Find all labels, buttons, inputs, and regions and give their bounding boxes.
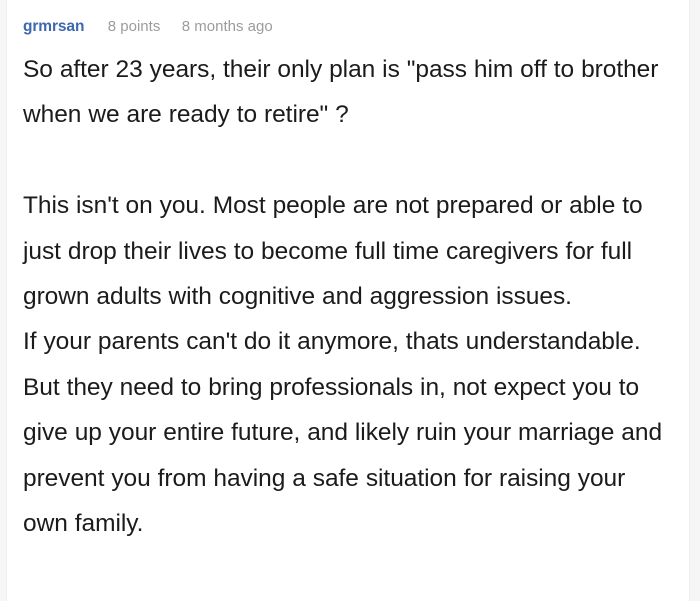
comment-timestamp: 8 months ago <box>182 17 273 37</box>
comment-score: 8 points <box>108 17 161 37</box>
comment-paragraph: This isn't on you. Most people are not p… <box>23 183 675 546</box>
comment-body: So after 23 years, their only plan is "p… <box>23 47 675 546</box>
comment-card: grmrsan 8 points 8 months ago So after 2… <box>6 0 690 601</box>
paragraph-spacer <box>23 138 675 183</box>
comment-meta-row: grmrsan 8 points 8 months ago <box>23 17 273 37</box>
comment-paragraph: So after 23 years, their only plan is "p… <box>23 47 675 138</box>
comment-page: grmrsan 8 points 8 months ago So after 2… <box>0 0 700 601</box>
comment-author-link[interactable]: grmrsan <box>23 17 84 37</box>
